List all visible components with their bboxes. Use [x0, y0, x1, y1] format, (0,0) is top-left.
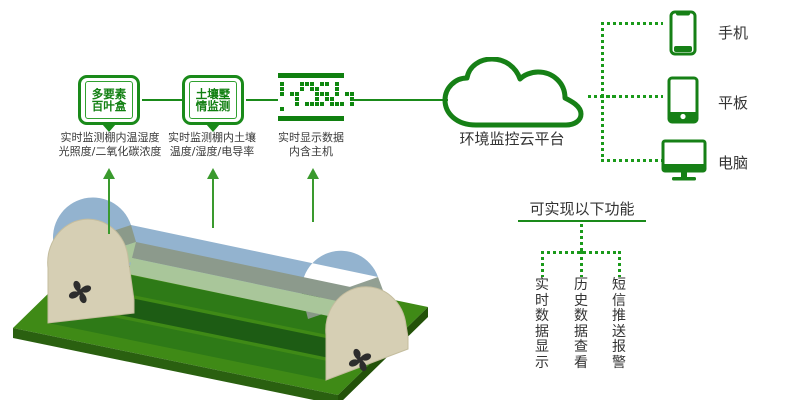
led-dot	[305, 102, 309, 106]
device-label-computer: 电脑	[718, 152, 748, 173]
led-dot	[295, 92, 299, 96]
connector-sensor1-sensor2	[142, 99, 184, 101]
sensor-caption-2-line2: 温度/湿度/电导率	[153, 145, 271, 159]
led-dot	[350, 102, 354, 106]
function-label-char: 报	[610, 340, 628, 356]
led-dot	[330, 92, 334, 96]
led-dot	[290, 87, 294, 91]
led-top-bar	[278, 73, 344, 78]
sensor-caption-3-line2: 内含主机	[263, 145, 359, 159]
led-dot	[345, 102, 349, 106]
led-dot	[325, 82, 329, 86]
function-label-char: 推	[610, 309, 628, 325]
led-dot	[340, 102, 344, 106]
sensor-box-inner: 多要素 百叶盒	[85, 81, 133, 119]
function-label-char: 看	[572, 356, 590, 372]
arrow-head-sensor-2	[207, 168, 219, 179]
led-dot	[350, 82, 354, 86]
led-dot	[315, 87, 319, 91]
led-dot	[290, 92, 294, 96]
led-dot	[345, 92, 349, 96]
led-bottom-bar	[278, 116, 344, 121]
led-dot	[280, 82, 284, 86]
led-dot	[325, 87, 329, 91]
function-label-realtime-data-display: 实时数据显示	[533, 278, 551, 371]
led-dot	[330, 102, 334, 106]
led-dot	[310, 102, 314, 106]
arrow-head-sensor-3	[307, 168, 319, 179]
led-dot	[340, 82, 344, 86]
led-dot	[335, 97, 339, 101]
function-label-char: 数	[572, 309, 590, 325]
led-dot	[285, 87, 289, 91]
function-label-char: 实	[533, 278, 551, 294]
led-dot-matrix-text	[280, 82, 354, 111]
device-label-tablet: 平板	[718, 92, 748, 113]
function-label-char: 短	[610, 278, 628, 294]
led-dot	[335, 82, 339, 86]
led-dot	[290, 97, 294, 101]
led-dot	[320, 82, 324, 86]
led-dot	[315, 92, 319, 96]
led-dot	[340, 87, 344, 91]
led-dot	[310, 97, 314, 101]
led-dot	[295, 82, 299, 86]
led-dot	[340, 92, 344, 96]
led-dot	[345, 97, 349, 101]
connector-sensor2-led	[246, 99, 278, 101]
led-dot	[300, 92, 304, 96]
function-label-char: 显	[533, 340, 551, 356]
function-label-char: 历	[572, 278, 590, 294]
led-dot	[300, 97, 304, 101]
sensor-caption-3-line1: 实时显示数据	[263, 131, 359, 145]
led-dot	[280, 107, 284, 111]
functions-tree-drop-1	[541, 251, 544, 277]
sensor-box-soil-moisture-monitor[interactable]: 土壤墅 情监测	[182, 75, 244, 125]
led-dot	[320, 87, 324, 91]
sensor-box-inner: 土壤墅 情监测	[189, 81, 237, 119]
led-dot	[285, 107, 289, 111]
led-dot	[280, 92, 284, 96]
function-label-char: 据	[572, 325, 590, 341]
sensor-box-multi-element-louver-box[interactable]: 多要素 百叶盒	[78, 75, 140, 125]
function-label-char: 据	[533, 325, 551, 341]
arrow-stem-sensor-1	[108, 178, 110, 234]
led-dot	[320, 97, 324, 101]
function-label-char: 示	[533, 356, 551, 372]
led-dot	[330, 82, 334, 86]
led-dot	[305, 97, 309, 101]
led-dot	[350, 87, 354, 91]
sensor-label-line2: 百叶盒	[92, 100, 127, 112]
led-dot	[290, 82, 294, 86]
greenhouse-illustration	[8, 195, 428, 400]
led-dot	[305, 87, 309, 91]
function-label-char: 时	[533, 294, 551, 310]
led-dot	[350, 92, 354, 96]
function-label-char: 史	[572, 294, 590, 310]
sensor-caption-2: 实时监测棚内土壤 温度/湿度/电导率	[153, 131, 271, 159]
led-dot	[295, 87, 299, 91]
led-dot	[330, 87, 334, 91]
functions-tree-drop-3	[618, 251, 621, 277]
led-dot	[280, 97, 284, 101]
arrow-stem-sensor-2	[212, 178, 214, 228]
led-dot	[285, 92, 289, 96]
functions-tree-trunk	[580, 224, 583, 253]
function-label-char: 查	[572, 340, 590, 356]
branch-to-tablet	[601, 95, 663, 98]
arrow-head-sensor-1	[103, 168, 115, 179]
led-dot	[285, 102, 289, 106]
led-dot	[280, 102, 284, 106]
led-dot	[335, 87, 339, 91]
sensor-caption-3: 实时显示数据 内含主机	[263, 131, 359, 159]
led-dot	[305, 82, 309, 86]
function-label-char: 信	[610, 294, 628, 310]
led-dot	[285, 82, 289, 86]
led-dot	[295, 97, 299, 101]
led-dot	[325, 97, 329, 101]
cloud-platform-label: 环境监控云平台	[432, 128, 592, 149]
led-dot	[335, 92, 339, 96]
led-dot	[315, 102, 319, 106]
led-dot	[310, 87, 314, 91]
smartphone-icon[interactable]	[668, 10, 698, 56]
cloud-icon[interactable]	[440, 57, 586, 129]
led-dot	[315, 97, 319, 101]
sensor-label-line2: 情监测	[196, 100, 231, 112]
desktop-monitor-icon[interactable]	[660, 139, 708, 183]
function-label-char: 警	[610, 356, 628, 372]
function-label-char: 送	[610, 325, 628, 341]
led-dot	[320, 92, 324, 96]
led-dot	[300, 102, 304, 106]
arrow-stem-sensor-3	[312, 178, 314, 222]
devices-bracket-spine	[601, 22, 604, 162]
functions-tree-drop-2	[580, 251, 583, 277]
led-dot	[290, 102, 294, 106]
led-dot	[345, 87, 349, 91]
led-dot	[340, 97, 344, 101]
led-dot	[295, 102, 299, 106]
led-dot	[325, 102, 329, 106]
led-dot	[310, 82, 314, 86]
led-dot	[300, 82, 304, 86]
led-display-sign[interactable]	[278, 73, 344, 121]
led-dot	[315, 82, 319, 86]
led-dot	[305, 92, 309, 96]
led-dot	[300, 87, 304, 91]
tablet-icon[interactable]	[666, 76, 700, 124]
led-dot	[325, 92, 329, 96]
branch-to-computer	[601, 159, 663, 162]
functions-title-underline	[518, 220, 646, 222]
functions-title: 可实现以下功能	[512, 198, 652, 219]
led-dot	[345, 82, 349, 86]
function-label-history-data-view: 历史数据查看	[572, 278, 590, 371]
sensor-caption-2-line1: 实时监测棚内土壤	[153, 131, 271, 145]
led-dot	[320, 102, 324, 106]
led-dot	[335, 102, 339, 106]
connector-led-cloud	[352, 99, 448, 101]
function-label-sms-push-alarm: 短信推送报警	[610, 278, 628, 371]
led-dot	[285, 97, 289, 101]
function-label-char: 数	[533, 309, 551, 325]
device-label-phone: 手机	[718, 22, 748, 43]
diagram-canvas: 多要素 百叶盒 实时监测棚内温湿度 光照度/二氧化碳浓度 土壤墅 情监测 实时监…	[0, 0, 800, 407]
led-dot	[310, 92, 314, 96]
led-dot	[280, 87, 284, 91]
branch-to-phone	[601, 22, 663, 25]
led-dot	[330, 97, 334, 101]
